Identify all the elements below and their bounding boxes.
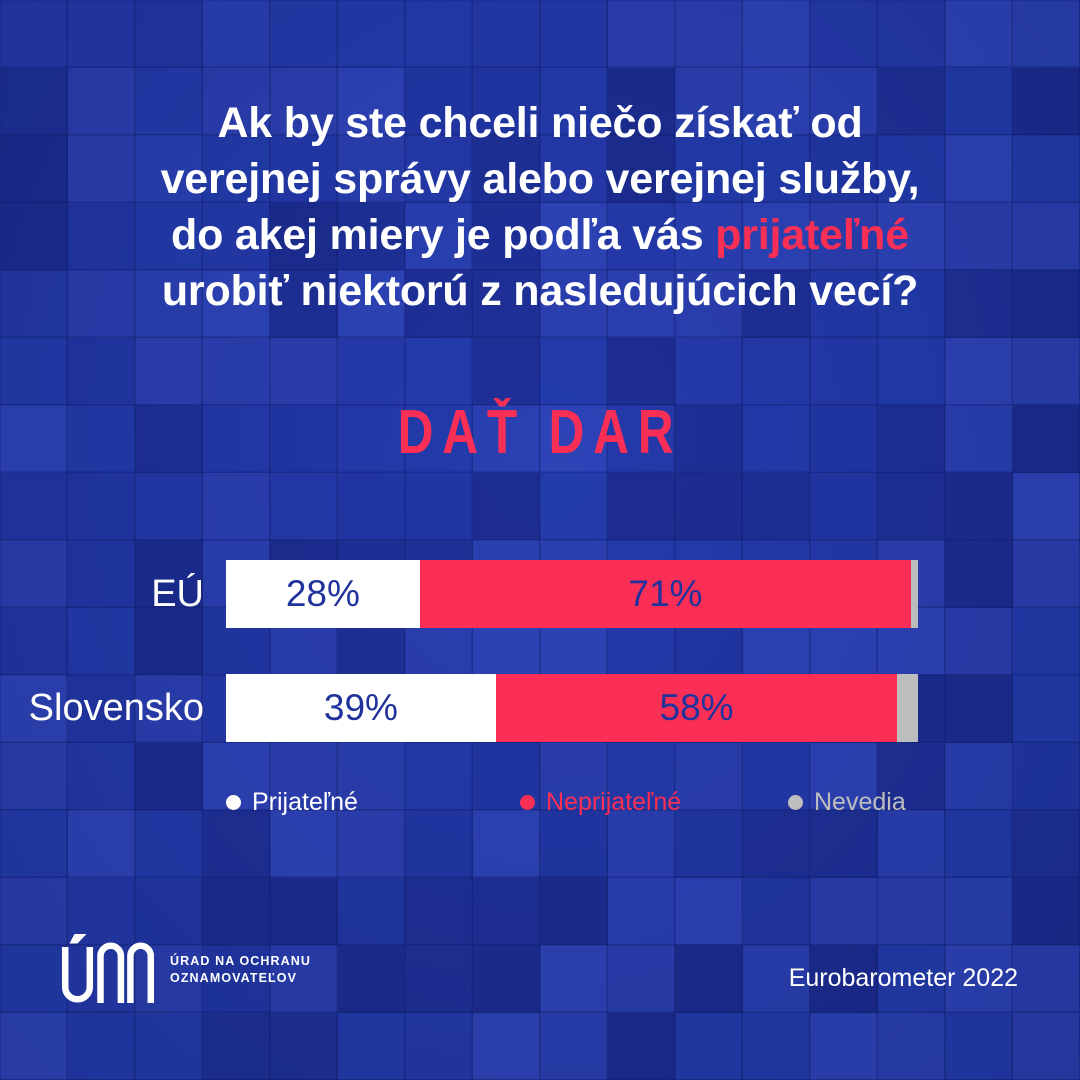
legend-dot-acceptable-icon	[226, 795, 241, 810]
organization-logo: ÚRAD NA OCHRANU OZNAMOVATEĽOV	[58, 934, 311, 1006]
bar-segment-dontknow-slovensko	[897, 674, 918, 742]
headline-line-1: Ak by ste chceli niečo získať od	[0, 95, 1080, 151]
bar-segment-unacceptable-slovensko: 58%	[496, 674, 897, 742]
infographic-root: Ak by ste chceli niečo získať od verejne…	[0, 0, 1080, 1080]
organization-name: ÚRAD NA OCHRANU OZNAMOVATEĽOV	[170, 953, 311, 987]
bar-segment-unacceptable-eu: 71%	[420, 560, 911, 628]
bar-track-slovensko: 39% 58%	[226, 674, 918, 742]
stacked-bar-chart: EÚ 28% 71% Slovensko 39% 58%	[0, 560, 1080, 788]
bar-label-eu: EÚ	[0, 560, 218, 628]
legend-dot-unacceptable-icon	[520, 795, 535, 810]
legend-label-unacceptable: Neprijateľné	[546, 788, 681, 817]
legend-item-acceptable: Prijateľné	[226, 788, 358, 817]
headline-highlight-word: prijateľné	[715, 211, 909, 259]
headline-line-3-text: do akej miery je podľa vás	[171, 211, 715, 259]
bar-row-slovensko: Slovensko 39% 58%	[0, 674, 1080, 742]
section-title: DAŤ DAR	[108, 398, 972, 468]
bar-track-eu: 28% 71%	[226, 560, 918, 628]
legend-dot-dontknow-icon	[788, 795, 803, 810]
headline: Ak by ste chceli niečo získať od verejne…	[0, 95, 1080, 319]
bar-segment-acceptable-slovensko: 39%	[226, 674, 496, 742]
organization-name-line-2: OZNAMOVATEĽOV	[170, 970, 311, 987]
headline-line-2: verejnej správy alebo verejnej služby,	[0, 151, 1080, 207]
headline-line-3: do akej miery je podľa vás prijateľné	[0, 207, 1080, 263]
source-credit: Eurobarometer 2022	[789, 964, 1018, 993]
chart-legend: Prijateľné Neprijateľné Nevedia	[226, 788, 926, 818]
legend-label-dontknow: Nevedia	[814, 788, 906, 817]
uoo-monogram-icon	[58, 934, 154, 1006]
organization-name-line-1: ÚRAD NA OCHRANU	[170, 953, 311, 970]
legend-item-dontknow: Nevedia	[788, 788, 906, 817]
headline-line-4: urobiť niektorú z nasledujúcich vecí?	[0, 263, 1080, 319]
legend-item-unacceptable: Neprijateľné	[520, 788, 681, 817]
bar-row-eu: EÚ 28% 71%	[0, 560, 1080, 628]
bar-segment-dontknow-eu	[911, 560, 918, 628]
legend-label-acceptable: Prijateľné	[252, 788, 358, 817]
bar-segment-acceptable-eu: 28%	[226, 560, 420, 628]
bar-label-slovensko: Slovensko	[0, 674, 218, 742]
